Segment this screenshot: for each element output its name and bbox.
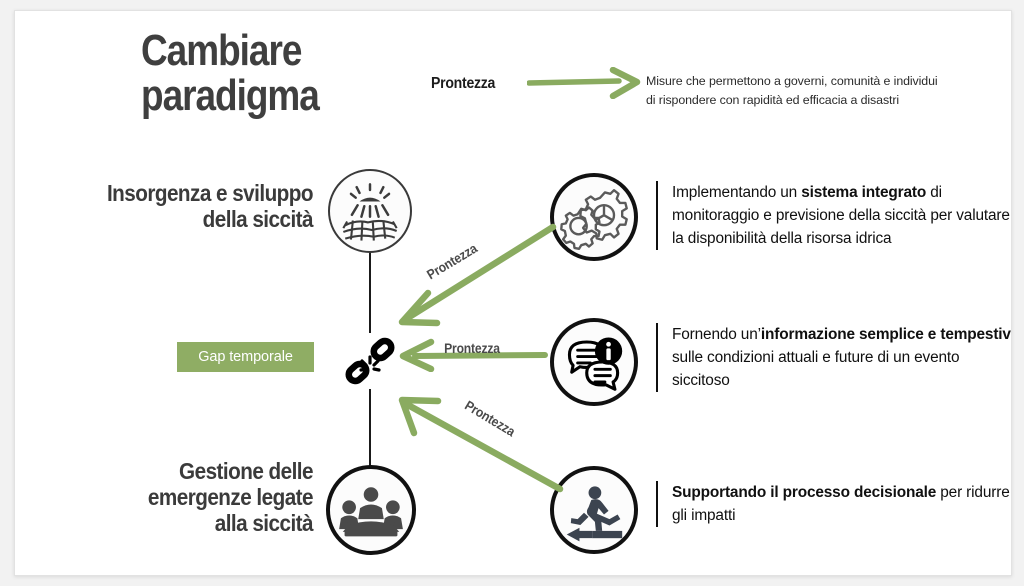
arrow-readiness-top (390, 221, 560, 331)
callout-text-decision: Supportando il processo decisionale per … (656, 481, 1012, 527)
title-line-1: Cambiare (141, 26, 301, 75)
callout-1-before: Implementando un (672, 184, 801, 201)
page-title: Cambiare paradigma (141, 29, 418, 119)
slide-card: Cambiare paradigma Prontezza Misure che … (14, 10, 1012, 576)
legend-definition-line-1: Misure che permettono a governi, comunit… (646, 72, 1006, 91)
legend-label: Prontezza (431, 75, 495, 93)
heading-emergency-line-3: alla siccità (81, 510, 313, 536)
heading-drought-onset-line-1: Insorgenza e sviluppo (54, 180, 313, 206)
monitoring-system-node (550, 173, 638, 261)
title-line-2: paradigma (141, 74, 418, 119)
status-badge-gap-temporale: Gap temporale (177, 342, 314, 372)
callout-3-bold: Supportando il processo decisionale (672, 484, 936, 501)
heading-emergency-line-2: emergenze legate (81, 484, 313, 510)
heading-drought-onset: Insorgenza e sviluppo della siccità (54, 180, 313, 232)
heading-emergency-management: Gestione delle emergenze legate alla sic… (81, 458, 313, 537)
speech-bubbles-info-icon (554, 322, 634, 402)
broken-chain-link-icon (342, 333, 398, 389)
slide-canvas: Cambiare paradigma Prontezza Misure che … (0, 0, 1024, 586)
connector-line-upper (369, 251, 371, 337)
arrow-label-middle: Prontezza (444, 341, 500, 356)
legend-definition: Misure che permettono a governi, comunit… (646, 72, 1006, 110)
callout-1-bold: sistema integrato (801, 184, 926, 201)
gears-icon (554, 177, 634, 257)
callout-2-after: sulle condizioni attuali e future di un … (672, 349, 959, 389)
arrow-right-green-icon (527, 67, 643, 99)
heading-drought-onset-line-2: della siccità (54, 206, 313, 232)
callout-text-information: Fornendo un’informazione semplice e temp… (656, 323, 1012, 392)
legend-definition-line-2: di rispondere con rapidità ed efficacia … (646, 91, 1006, 110)
callout-2-bold: informazione semplice e tempestiva (761, 326, 1012, 343)
callout-text-monitoring: Implementando un sistema integrato di mo… (656, 181, 1012, 250)
connector-line-lower (369, 383, 371, 469)
running-person-arrow-icon (554, 470, 634, 550)
heading-emergency-line-1: Gestione delle (81, 458, 313, 484)
callout-2-before: Fornendo un’ (672, 326, 761, 343)
